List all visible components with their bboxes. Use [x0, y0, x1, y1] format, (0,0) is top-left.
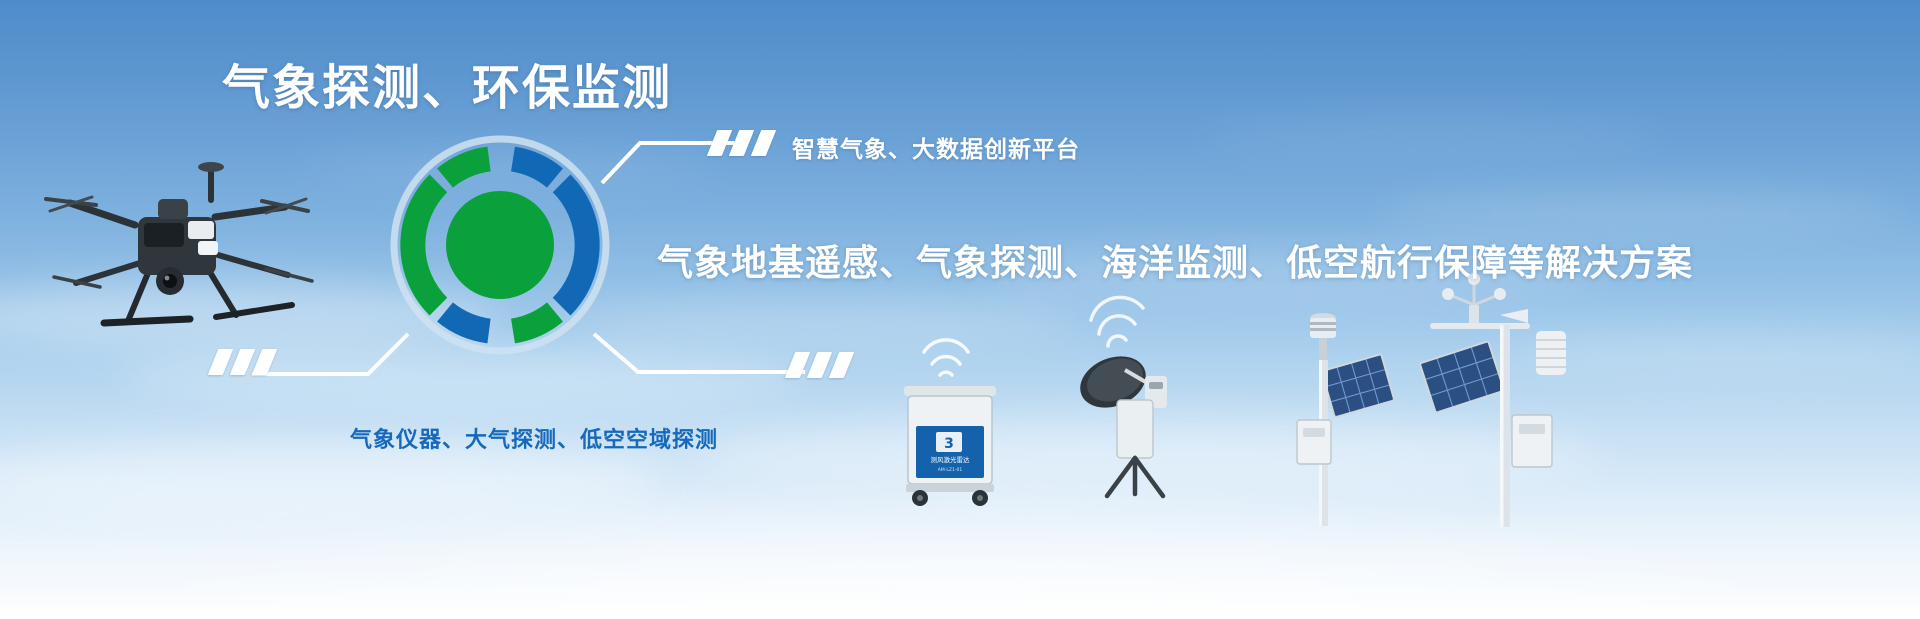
solar-weather-station-anemometer-photo: [1400, 265, 1575, 530]
svg-text:AM-LZ1-01: AM-LZ1-01: [938, 467, 963, 473]
banner-root: 3 测风激光雷达 AM-LZ1-01: [0, 0, 1920, 619]
cloud-wisp: [1200, 120, 1660, 154]
cloud-wisp: [1380, 190, 1900, 234]
solution-headline: 气象地基遥感、气象探测、海洋监测、低空航行保障等解决方案: [657, 234, 1693, 286]
svg-text:3: 3: [944, 436, 954, 452]
solar-weather-station-photo: [1275, 300, 1395, 530]
svg-text:测风激光雷达: 测风激光雷达: [931, 455, 971, 464]
page-title: 气象探测、环保监测: [222, 48, 672, 118]
triple-slash-icon-bottom-right: [790, 352, 849, 378]
connector-line-bottom-left: [250, 330, 410, 400]
triple-slash-icon-top: [712, 130, 771, 156]
callout-top-label: 智慧气象、大数据创新平台: [792, 130, 1080, 164]
triple-slash-icon-bottom-left: [213, 349, 272, 375]
donut-diagram: [385, 130, 615, 360]
radar-cabinet-photo: 3 测风激光雷达 AM-LZ1-01: [890, 330, 1010, 510]
callout-bottom-left-label: 气象仪器、大气探测、低空空域探测: [350, 422, 718, 454]
drone-photo: [40, 155, 330, 335]
satellite-dish-photo: [1065, 290, 1200, 500]
connector-line-bottom-right: [592, 330, 807, 400]
